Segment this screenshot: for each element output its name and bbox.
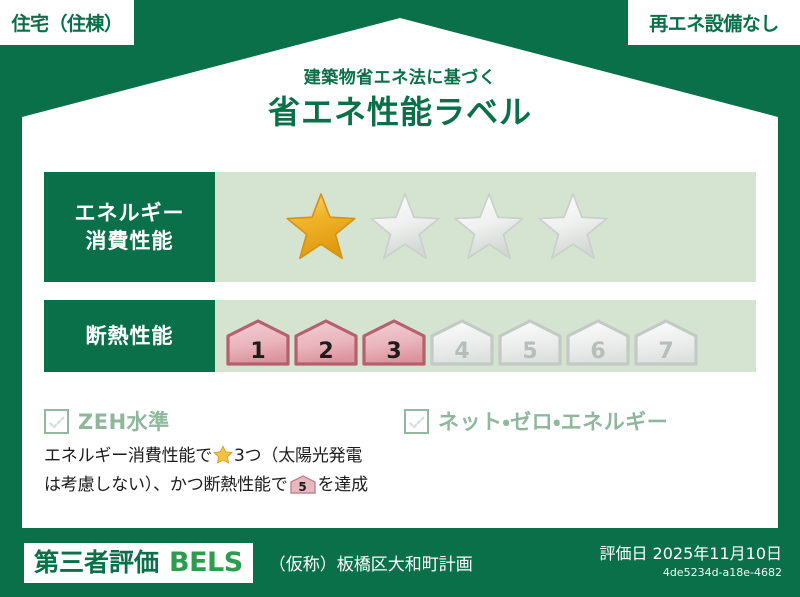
energy-consumption-row: エネルギー 消費性能 (44, 172, 756, 282)
insulation-performance-row: 断熱性能 1234567 (44, 300, 756, 372)
zeh-criterion-title: ZEH水準 (78, 406, 170, 436)
energy-consumption-value (215, 172, 756, 282)
insulation-level-chip-number: 2 (293, 341, 359, 363)
net-zero-energy-criterion-head: ネット・ゼロ・エネルギー (404, 406, 734, 436)
inline-star-icon (213, 445, 233, 472)
title-subtitle: 建築物省エネ法に基づく (0, 68, 800, 88)
net-zero-energy-criterion: ネット・ゼロ・エネルギー (404, 406, 734, 436)
insulation-level-chip-number: 5 (497, 341, 563, 363)
evaluation-date: 評価日 2025年11月10日 (599, 544, 782, 563)
insulation-level-chip: 4 (429, 319, 495, 366)
star-icon-empty (451, 191, 527, 264)
inline-insulation-house-icon: 5 (290, 475, 316, 494)
bels-badge: 第三者評価 BELS (24, 543, 253, 583)
star-icon-empty (535, 191, 611, 264)
page-title: 建築物省エネ法に基づく 省エネ性能ラベル (0, 68, 800, 134)
footer-meta: 評価日 2025年11月10日 4de5234d-a18e-4682 (599, 544, 782, 581)
insulation-performance-value: 1234567 (215, 300, 756, 372)
inline-insulation-house-number: 5 (290, 481, 316, 493)
insulation-level-track: 1234567 (225, 319, 699, 372)
net-zero-energy-criterion-title: ネット・ゼロ・エネルギー (438, 406, 668, 436)
zeh-desc-part1: エネルギー消費性能で (44, 446, 212, 466)
building-type-tag-label: 住宅（住棟） (11, 9, 122, 36)
bels-badge-jp-label: 第三者評価 (34, 550, 159, 575)
star-icon-empty (367, 191, 443, 264)
insulation-level-chip: 6 (565, 319, 631, 366)
renewable-energy-tag-label: 再エネ設備なし (649, 9, 779, 36)
building-type-tag: 住宅（住棟） (0, 0, 136, 47)
zeh-desc-part3: は考慮しない）、かつ断熱性能で (44, 475, 288, 495)
energy-consumption-label-line1: エネルギー (75, 199, 185, 227)
insulation-level-chip: 2 (293, 319, 359, 366)
insulation-level-chip: 3 (361, 319, 427, 366)
document-id: 4de5234d-a18e-4682 (599, 565, 782, 580)
star-rating-track (229, 191, 611, 264)
insulation-performance-label: 断熱性能 (44, 300, 215, 372)
insulation-level-chip-number: 7 (633, 341, 699, 363)
star-icon-filled (283, 191, 359, 264)
insulation-level-chip-number: 3 (361, 341, 427, 363)
zeh-criterion-head: ZEH水準 (44, 406, 404, 436)
zeh-desc-part4: を達成 (318, 475, 368, 495)
net-zero-energy-checkbox[interactable] (404, 409, 429, 434)
insulation-level-chip: 7 (633, 319, 699, 366)
insulation-level-chip-number: 6 (565, 341, 631, 363)
zeh-criterion: ZEH水準 (44, 406, 404, 436)
energy-consumption-label-line2: 消費性能 (86, 227, 174, 255)
project-name: （仮称）板橋区大和町計画 (269, 550, 473, 575)
zeh-checkbox[interactable] (44, 409, 69, 434)
insulation-level-chip: 1 (225, 319, 291, 366)
title-main: 省エネ性能ラベル (0, 92, 800, 134)
footer-bar: 第三者評価 BELS （仮称）板橋区大和町計画 評価日 2025年11月10日 … (0, 528, 800, 597)
bels-badge-en-label: BELS (169, 549, 243, 576)
renewable-energy-tag: 再エネ設備なし (626, 0, 800, 47)
criteria-section: ZEH水準 ネット・ゼロ・エネルギー エネルギー消費性能で3つ（太陽光発電は考慮… (44, 406, 756, 499)
criteria-headings: ZEH水準 ネット・ゼロ・エネルギー (44, 406, 756, 436)
insulation-level-chip-number: 4 (429, 341, 495, 363)
zeh-desc-part2: 3つ（太陽光発電 (234, 446, 362, 466)
insulation-performance-label-line1: 断熱性能 (86, 322, 174, 350)
energy-performance-label: 住宅（住棟） 再エネ設備なし 建築物省エネ法に基づく 省エネ性能ラベル エネルギ… (0, 0, 800, 597)
energy-consumption-label: エネルギー 消費性能 (44, 172, 215, 282)
insulation-level-chip-number: 1 (225, 341, 291, 363)
insulation-level-chip: 5 (497, 319, 563, 366)
zeh-criterion-description: エネルギー消費性能で3つ（太陽光発電は考慮しない）、かつ断熱性能で5を達成 (44, 443, 416, 499)
